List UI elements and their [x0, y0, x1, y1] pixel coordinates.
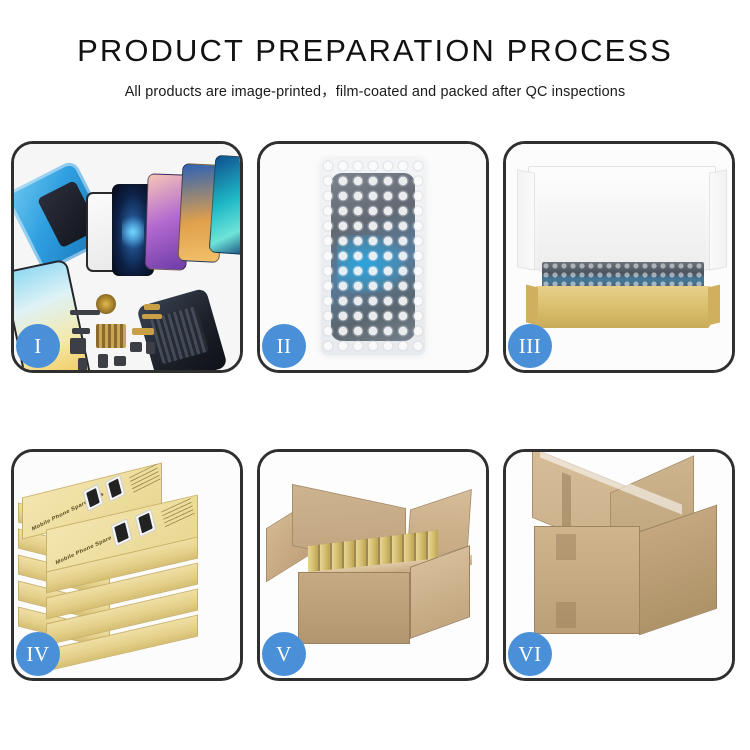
step-panel-retail-box-stack: Mobile Phone Spare Parts Mobile Phone Sp…	[11, 449, 243, 681]
step-badge-5: V	[262, 632, 306, 676]
product-preparation-infographic: PRODUCT PREPARATION PROCESS All products…	[0, 0, 750, 750]
step-panel-carton-loading: V	[257, 449, 489, 681]
bubble-wrap-pouch-icon	[321, 159, 425, 355]
step-badge-4: IV	[16, 632, 60, 676]
step-panel-inner-box-packing: III	[503, 141, 735, 373]
step-badge-3: III	[508, 324, 552, 368]
step-badge-2: II	[262, 324, 306, 368]
step-panel-bubble-wrap-packing: II	[257, 141, 489, 373]
mailer-box-base-icon	[536, 286, 710, 328]
page-title: PRODUCT PREPARATION PROCESS	[0, 34, 750, 69]
page-subtitle: All products are image-printed，film-coat…	[0, 80, 750, 101]
step-panel-sealed-carton: VI	[503, 449, 735, 681]
carton-handle-tab-top-icon	[556, 534, 576, 560]
spare-parts-group	[70, 294, 200, 370]
process-steps-grid: I II III	[11, 141, 739, 681]
carton-front-face-icon	[298, 572, 410, 644]
step-badge-1: I	[16, 324, 60, 368]
step-badge-6: VI	[508, 632, 552, 676]
sealed-carton-front-icon	[534, 526, 640, 634]
carton-handle-tab-bottom-icon	[556, 602, 576, 628]
step-panel-product-display: I	[11, 141, 243, 373]
header: PRODUCT PREPARATION PROCESS All products…	[0, 0, 750, 101]
